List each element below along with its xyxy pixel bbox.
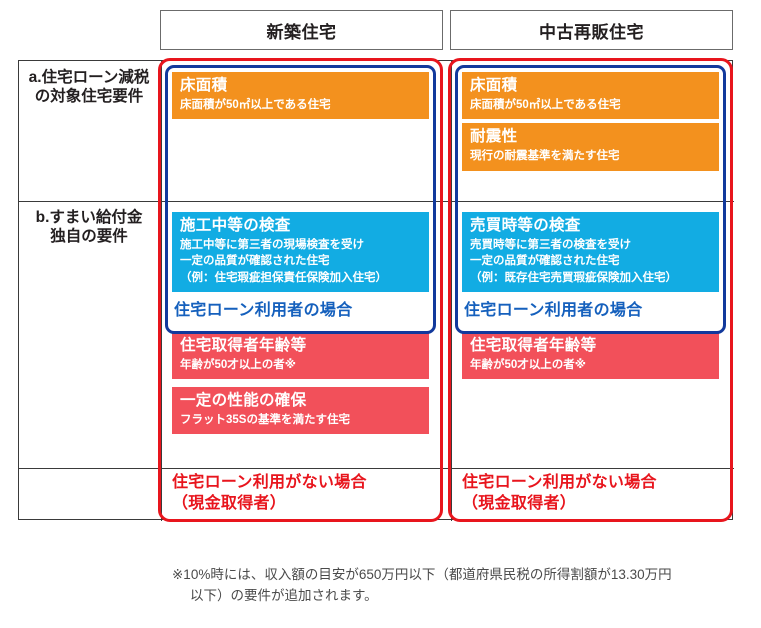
requirement-chip: 一定の性能の確保 フラット35Sの基準を満たす住宅	[172, 387, 429, 434]
requirement-chip: 床面積 床面積が50㎡以上である住宅	[462, 72, 719, 119]
chip-description: 施工中等に第三者の現場検査を受け 一定の品質が確認された住宅 （例：住宅瑕疵担保…	[180, 237, 421, 286]
scope-caption-loan-user: 住宅ローン利用者の場合	[462, 296, 719, 320]
chip-title: 一定の性能の確保	[180, 391, 421, 412]
cell-row-a-resale: 床面積 床面積が50㎡以上である住宅 耐震性 現行の耐震基準を満たす住宅	[462, 72, 719, 175]
row-label-b: b.すまい給付金 独自の要件	[18, 208, 160, 247]
chip-title: 住宅取得者年齢等	[180, 336, 421, 357]
chip-description: 床面積が50㎡以上である住宅	[180, 97, 421, 113]
requirement-chip: 住宅取得者年齢等 年齢が50才以上の者※	[462, 332, 719, 379]
chip-title: 床面積	[470, 76, 711, 97]
scope-caption-loan-user: 住宅ローン利用者の場合	[172, 296, 429, 320]
cell-row-b-new-build: 施工中等の検査 施工中等に第三者の現場検査を受け 一定の品質が確認された住宅 （…	[172, 212, 429, 438]
footnote-line-1: ※10%時には、収入額の目安が650万円以下（都道府県民税の所得割額が13.30…	[172, 567, 672, 582]
chip-title: 施工中等の検査	[180, 216, 421, 237]
chip-description: 売買時等に第三者の検査を受け 一定の品質が確認された住宅 （例：既存住宅売買瑕疵…	[470, 237, 711, 286]
chip-description: 年齢が50才以上の者※	[470, 357, 711, 373]
cell-row-b-resale: 売買時等の検査 売買時等に第三者の検査を受け 一定の品質が確認された住宅 （例：…	[462, 212, 719, 383]
no-loan-caption-resale: 住宅ローン利用がない場合 （現金取得者）	[462, 473, 727, 515]
requirement-chip: 耐震性 現行の耐震基準を満たす住宅	[462, 123, 719, 170]
column-header-resale: 中古再販住宅	[450, 10, 733, 50]
row-divider-a-b	[19, 201, 734, 202]
cell-row-a-new-build: 床面積 床面積が50㎡以上である住宅	[172, 72, 429, 123]
column-divider-label	[161, 61, 162, 521]
no-loan-caption-new-build: 住宅ローン利用がない場合 （現金取得者）	[172, 473, 437, 515]
footnote: ※10%時には、収入額の目安が650万円以下（都道府県民税の所得割額が13.30…	[172, 544, 752, 628]
requirement-chip: 施工中等の検査 施工中等に第三者の現場検査を受け 一定の品質が確認された住宅 （…	[172, 212, 429, 292]
row-label-a: a.住宅ローン減税 の対象住宅要件	[18, 68, 160, 107]
chip-title: 耐震性	[470, 127, 711, 148]
requirements-comparison-table: 新築住宅 中古再販住宅 a.住宅ローン減税 の対象住宅要件 b.すまい給付金 独…	[0, 0, 761, 590]
chip-description: 床面積が50㎡以上である住宅	[470, 97, 711, 113]
requirement-chip: 売買時等の検査 売買時等に第三者の検査を受け 一定の品質が確認された住宅 （例：…	[462, 212, 719, 292]
footnote-line-2: 以下）の要件が追加されます。	[172, 586, 752, 607]
chip-description: 現行の耐震基準を満たす住宅	[470, 148, 711, 164]
column-divider-middle	[451, 61, 452, 521]
chip-title: 住宅取得者年齢等	[470, 336, 711, 357]
requirement-chip: 床面積 床面積が50㎡以上である住宅	[172, 72, 429, 119]
column-header-new-build: 新築住宅	[160, 10, 443, 50]
row-divider-b-noloan	[19, 468, 734, 469]
chip-description: 年齢が50才以上の者※	[180, 357, 421, 373]
chip-title: 床面積	[180, 76, 421, 97]
chip-title: 売買時等の検査	[470, 216, 711, 237]
requirement-chip: 住宅取得者年齢等 年齢が50才以上の者※	[172, 332, 429, 379]
chip-description: フラット35Sの基準を満たす住宅	[180, 412, 421, 428]
